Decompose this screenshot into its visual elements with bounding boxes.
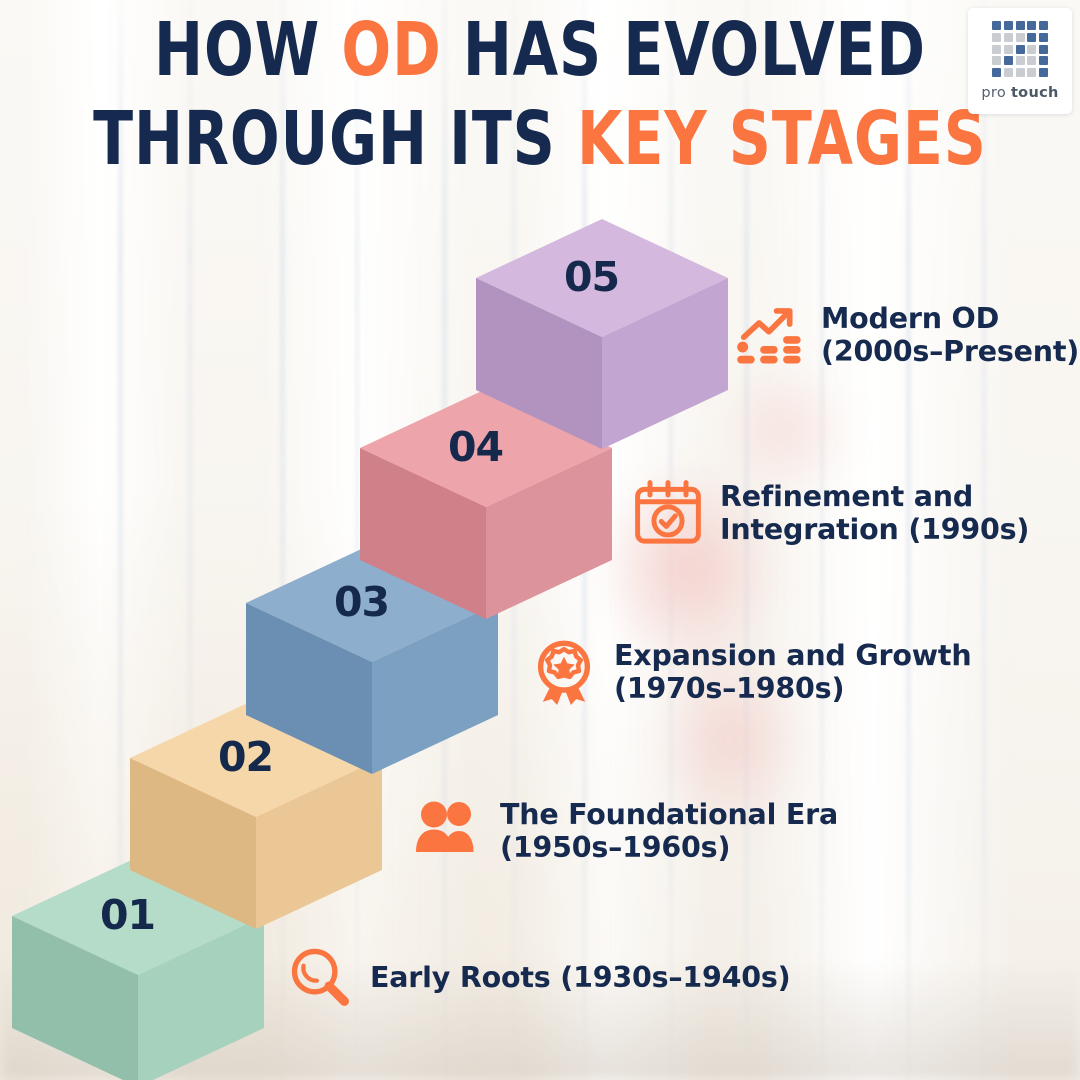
logo-wordmark: pro touch — [981, 85, 1058, 101]
step-block-05[interactable]: 05 — [472, 215, 732, 453]
logo-cell-1-3 — [1027, 33, 1036, 42]
stage-label-text-01: Early Roots (1930s–1940s) — [370, 961, 791, 994]
logo-word-touch: touch — [1011, 85, 1059, 101]
logo-word-pro: pro — [981, 85, 1006, 101]
stage-label-02[interactable]: The Foundational Era (1950s–1960s) — [412, 798, 838, 864]
title-text-1b: HAS EVOLVED — [442, 7, 926, 93]
logo-cell-4-4 — [1039, 68, 1048, 77]
growth-chart-icon — [735, 300, 805, 370]
stage-label-05[interactable]: Modern OD (2000s–Present) — [735, 300, 1079, 370]
logo-cell-0-0 — [992, 21, 1001, 30]
logo-cell-0-4 — [1039, 21, 1048, 30]
logo-cell-0-1 — [1004, 21, 1013, 30]
page-title: HOW OD HAS EVOLVED THROUGH ITS KEY STAGE… — [0, 10, 1080, 179]
title-highlight-od: OD — [341, 7, 441, 93]
brand-logo: pro touch — [968, 8, 1072, 114]
stage-label-04[interactable]: Refinement and Integration (1990s) — [632, 477, 1029, 549]
award-badge-icon — [530, 638, 598, 706]
cube-shape-05 — [472, 215, 732, 453]
logo-cell-3-4 — [1039, 56, 1048, 65]
logo-cell-0-2 — [1016, 21, 1025, 30]
infographic-canvas: HOW OD HAS EVOLVED THROUGH ITS KEY STAGE… — [0, 0, 1080, 1080]
logo-cell-0-3 — [1027, 21, 1036, 30]
logo-cell-1-4 — [1039, 33, 1048, 42]
stage-label-text-04: Refinement and Integration (1990s) — [720, 480, 1029, 546]
logo-cell-1-1 — [1004, 33, 1013, 42]
logo-cell-2-0 — [992, 45, 1001, 54]
logo-cell-2-3 — [1027, 45, 1036, 54]
logo-cell-1-0 — [992, 33, 1001, 42]
logo-cell-2-4 — [1039, 45, 1048, 54]
title-text-2a: THROUGH ITS — [93, 96, 577, 182]
logo-cell-2-1 — [1004, 45, 1013, 54]
stage-label-text-02: The Foundational Era (1950s–1960s) — [500, 798, 838, 864]
logo-cell-4-0 — [992, 68, 1001, 77]
title-text-1a: HOW — [154, 7, 341, 93]
calendar-check-icon — [632, 477, 704, 549]
logo-cell-3-2 — [1016, 56, 1025, 65]
stage-label-01[interactable]: Early Roots (1930s–1940s) — [286, 944, 791, 1012]
logo-cell-4-3 — [1027, 68, 1036, 77]
title-line-1: HOW OD HAS EVOLVED — [65, 10, 1015, 91]
magnifier-icon — [286, 944, 354, 1012]
logo-cell-3-3 — [1027, 56, 1036, 65]
title-line-2: THROUGH ITS KEY STAGES — [65, 99, 1015, 180]
logo-cell-3-0 — [992, 56, 1001, 65]
logo-cell-1-2 — [1016, 33, 1025, 42]
stage-label-text-05: Modern OD (2000s–Present) — [821, 302, 1079, 368]
logo-cell-4-2 — [1016, 68, 1025, 77]
logo-cell-2-2 — [1016, 45, 1025, 54]
logo-cell-3-1 — [1004, 56, 1013, 65]
logo-cell-4-1 — [1004, 68, 1013, 77]
stage-label-03[interactable]: Expansion and Growth (1970s–1980s) — [530, 638, 971, 706]
people-icon — [412, 800, 484, 862]
logo-grid-icon — [992, 21, 1047, 76]
title-highlight-key-stages: KEY STAGES — [577, 96, 987, 182]
stage-label-text-03: Expansion and Growth (1970s–1980s) — [614, 639, 971, 705]
